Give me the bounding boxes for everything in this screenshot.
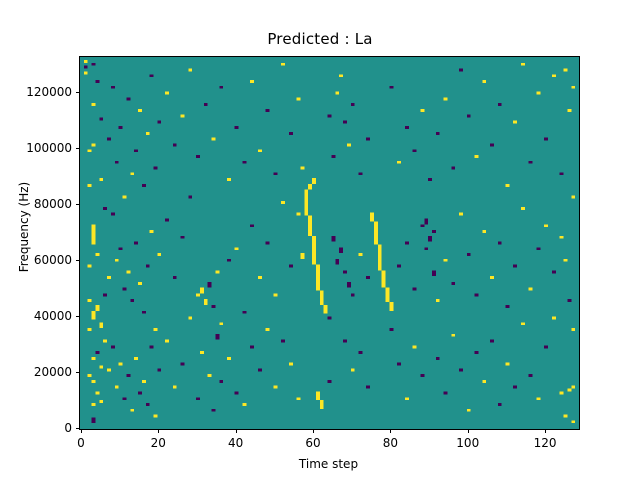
x-tick-label: 0: [77, 436, 85, 450]
x-tick-mark: [468, 429, 469, 433]
y-tick-mark: [76, 316, 80, 317]
matplotlib-figure: Predicted : La 0200004000060000800001000…: [0, 0, 640, 480]
heatmap-canvas: [80, 57, 579, 429]
y-tick-mark: [76, 372, 80, 373]
x-tick-mark: [390, 429, 391, 433]
y-tick-mark: [76, 148, 80, 149]
y-tick-label: 60000: [0, 253, 72, 267]
heatmap-axes: [79, 56, 580, 430]
heatmap-image: [80, 57, 579, 429]
y-tick-mark: [76, 428, 80, 429]
y-tick-label: 120000: [0, 85, 72, 99]
x-tick-mark: [81, 429, 82, 433]
x-tick-mark: [313, 429, 314, 433]
y-tick-label: 0: [0, 421, 72, 435]
y-tick-label: 20000: [0, 365, 72, 379]
y-tick-label: 100000: [0, 141, 72, 155]
x-tick-mark: [158, 429, 159, 433]
x-tick-label: 20: [151, 436, 166, 450]
y-tick-mark: [76, 92, 80, 93]
x-tick-label: 100: [456, 436, 479, 450]
page-title: Predicted : La: [0, 30, 640, 48]
y-axis-label: Frequency (Hz): [17, 37, 31, 417]
x-tick-mark: [236, 429, 237, 433]
x-tick-label: 80: [383, 436, 398, 450]
x-tick-label: 120: [534, 436, 557, 450]
x-tick-label: 60: [305, 436, 320, 450]
y-tick-mark: [76, 260, 80, 261]
y-tick-mark: [76, 204, 80, 205]
x-tick-mark: [545, 429, 546, 433]
y-tick-label: 80000: [0, 197, 72, 211]
x-tick-label: 40: [228, 436, 243, 450]
y-tick-label: 40000: [0, 309, 72, 323]
x-axis-label: Time step: [79, 457, 578, 471]
